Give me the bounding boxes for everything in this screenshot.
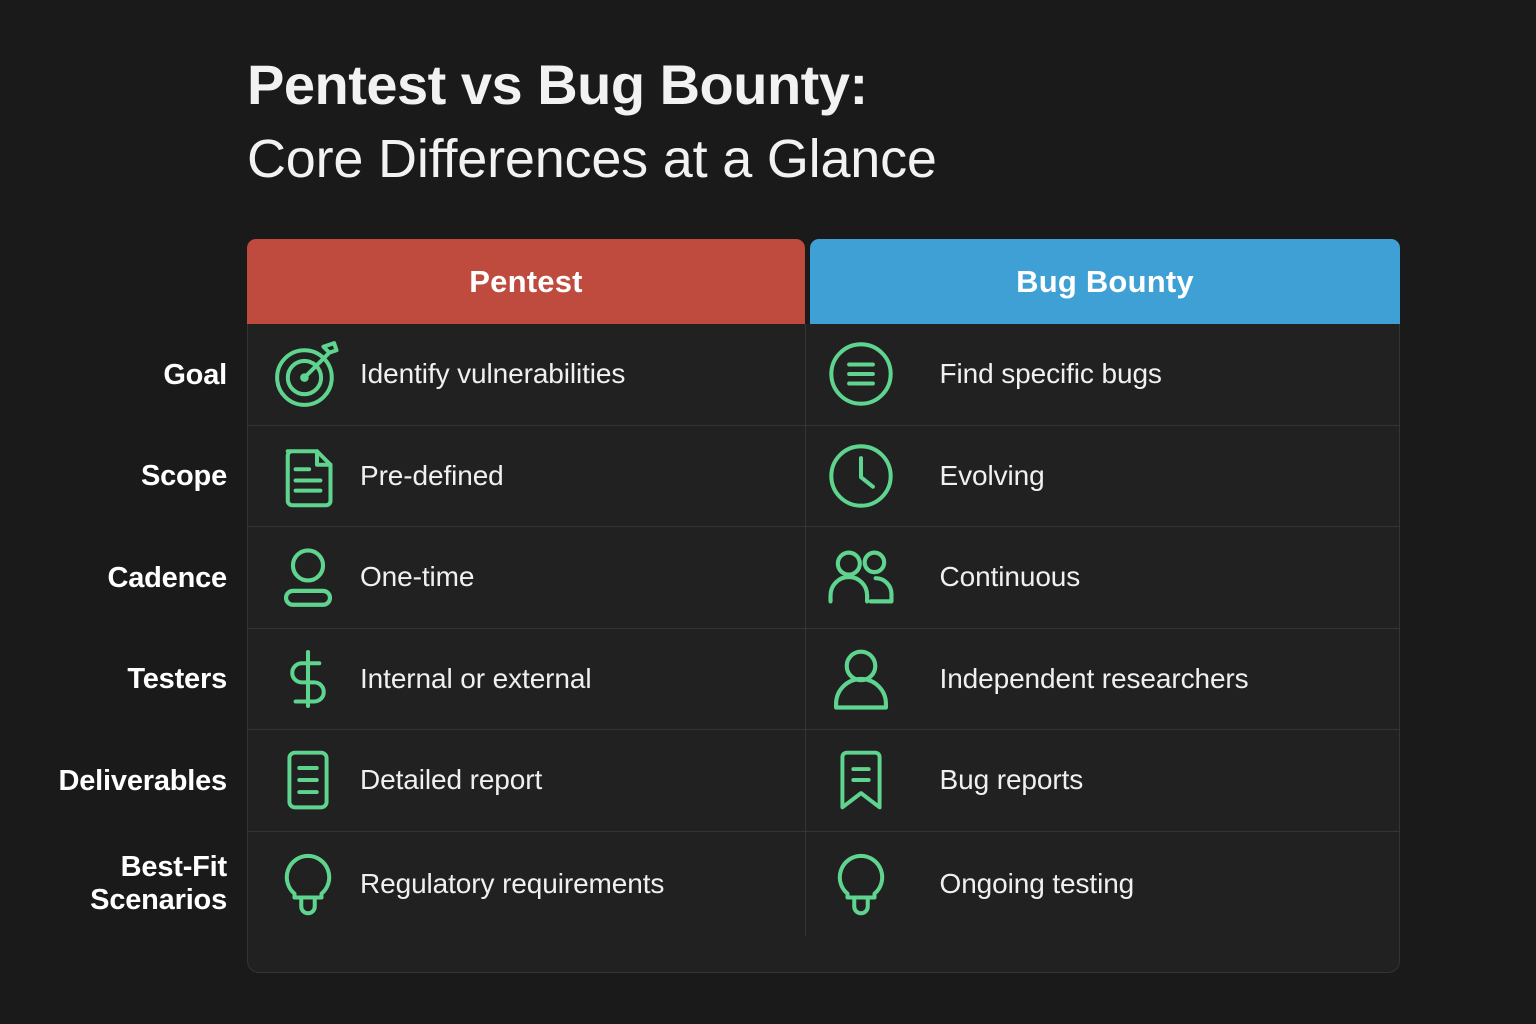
title-line-2: Core Differences at a Glance (247, 122, 1407, 197)
column-header-label: Bug Bounty (1016, 264, 1194, 300)
lightbulb-icon (248, 848, 368, 920)
cell-value: Ongoing testing (940, 868, 1135, 900)
page-title: Pentest vs Bug Bounty: Core Differences … (247, 48, 1407, 196)
row-label-text: Testers (127, 663, 227, 695)
document-page-icon (248, 440, 368, 512)
cell-bugbounty-testers: Independent researchers (806, 629, 1399, 730)
cell-value: Find specific bugs (940, 358, 1162, 390)
infographic-page: Pentest vs Bug Bounty: Core Differences … (0, 0, 1536, 1024)
table-row: Pre-defined Evolving (248, 426, 1399, 528)
row-label-text: Goal (163, 359, 227, 391)
cell-bugbounty-goal: Find specific bugs (806, 324, 1399, 425)
row-label-best-fit-scenarios: Best-Fit Scenarios (0, 832, 227, 936)
table-row: Identify vulnerabilities Find specific b… (248, 324, 1399, 426)
row-label-deliverables: Deliverables (0, 730, 227, 832)
cell-value: Continuous (940, 561, 1081, 593)
comparison-table: Pentest Bug Bounty (247, 239, 1400, 973)
person-icon (806, 641, 916, 717)
cell-bugbounty-best-fit: Ongoing testing (806, 832, 1399, 936)
cell-value: Independent researchers (940, 663, 1249, 695)
column-header-pentest[interactable]: Pentest (247, 239, 805, 324)
row-label-goal: Goal (0, 324, 227, 426)
cell-pentest-best-fit: Regulatory requirements (248, 832, 806, 936)
row-label-column: Goal Scope Cadence Testers Deliverables … (0, 324, 227, 973)
cell-value: Identify vulnerabilities (360, 358, 625, 390)
two-people-icon (806, 538, 916, 616)
clock-icon (806, 438, 916, 514)
table-body: Identify vulnerabilities Find specific b… (247, 324, 1400, 973)
row-label-text: Deliverables (59, 765, 228, 797)
bookmark-report-icon (806, 745, 916, 815)
report-document-icon (248, 745, 368, 815)
cell-pentest-scope: Pre-defined (248, 426, 806, 527)
table-row: Internal or external Independent researc… (248, 629, 1399, 731)
single-person-icon (248, 540, 368, 614)
title-line-1: Pentest vs Bug Bounty: (247, 48, 1407, 122)
cell-pentest-goal: Identify vulnerabilities (248, 324, 806, 425)
lightbulb-icon (806, 848, 916, 920)
row-label-cadence: Cadence (0, 527, 227, 629)
column-header-label: Pentest (469, 264, 582, 300)
cell-value: Evolving (940, 460, 1045, 492)
target-icon (248, 336, 368, 412)
cell-pentest-deliverables: Detailed report (248, 730, 806, 831)
table-row: Detailed report Bug reports (248, 730, 1399, 832)
cell-value: Internal or external (360, 663, 591, 695)
cell-value: One-time (360, 561, 474, 593)
cell-bugbounty-deliverables: Bug reports (806, 730, 1399, 831)
row-label-scope: Scope (0, 426, 227, 528)
row-label-text: Best-Fit Scenarios (90, 851, 227, 916)
cell-value: Pre-defined (360, 460, 504, 492)
cell-value: Regulatory requirements (360, 868, 664, 900)
cell-pentest-cadence: One-time (248, 527, 806, 628)
row-label-line-2: Scenarios (90, 884, 227, 916)
row-label-text: Scope (141, 460, 227, 492)
table-row: Regulatory requirements Ongoing testing (248, 832, 1399, 936)
cell-bugbounty-cadence: Continuous (806, 527, 1399, 628)
dollar-sign-icon (248, 643, 368, 715)
column-header-bug-bounty[interactable]: Bug Bounty (810, 239, 1400, 324)
circle-list-icon (806, 336, 916, 412)
row-label-line-1: Best-Fit (121, 851, 227, 883)
table-row: One-time Continuous (248, 527, 1399, 629)
cell-value: Bug reports (940, 764, 1084, 796)
table-header-row: Pentest Bug Bounty (247, 239, 1400, 324)
row-label-testers: Testers (0, 629, 227, 731)
cell-bugbounty-scope: Evolving (806, 426, 1399, 527)
cell-value: Detailed report (360, 764, 542, 796)
cell-pentest-testers: Internal or external (248, 629, 806, 730)
row-label-text: Cadence (108, 562, 228, 594)
